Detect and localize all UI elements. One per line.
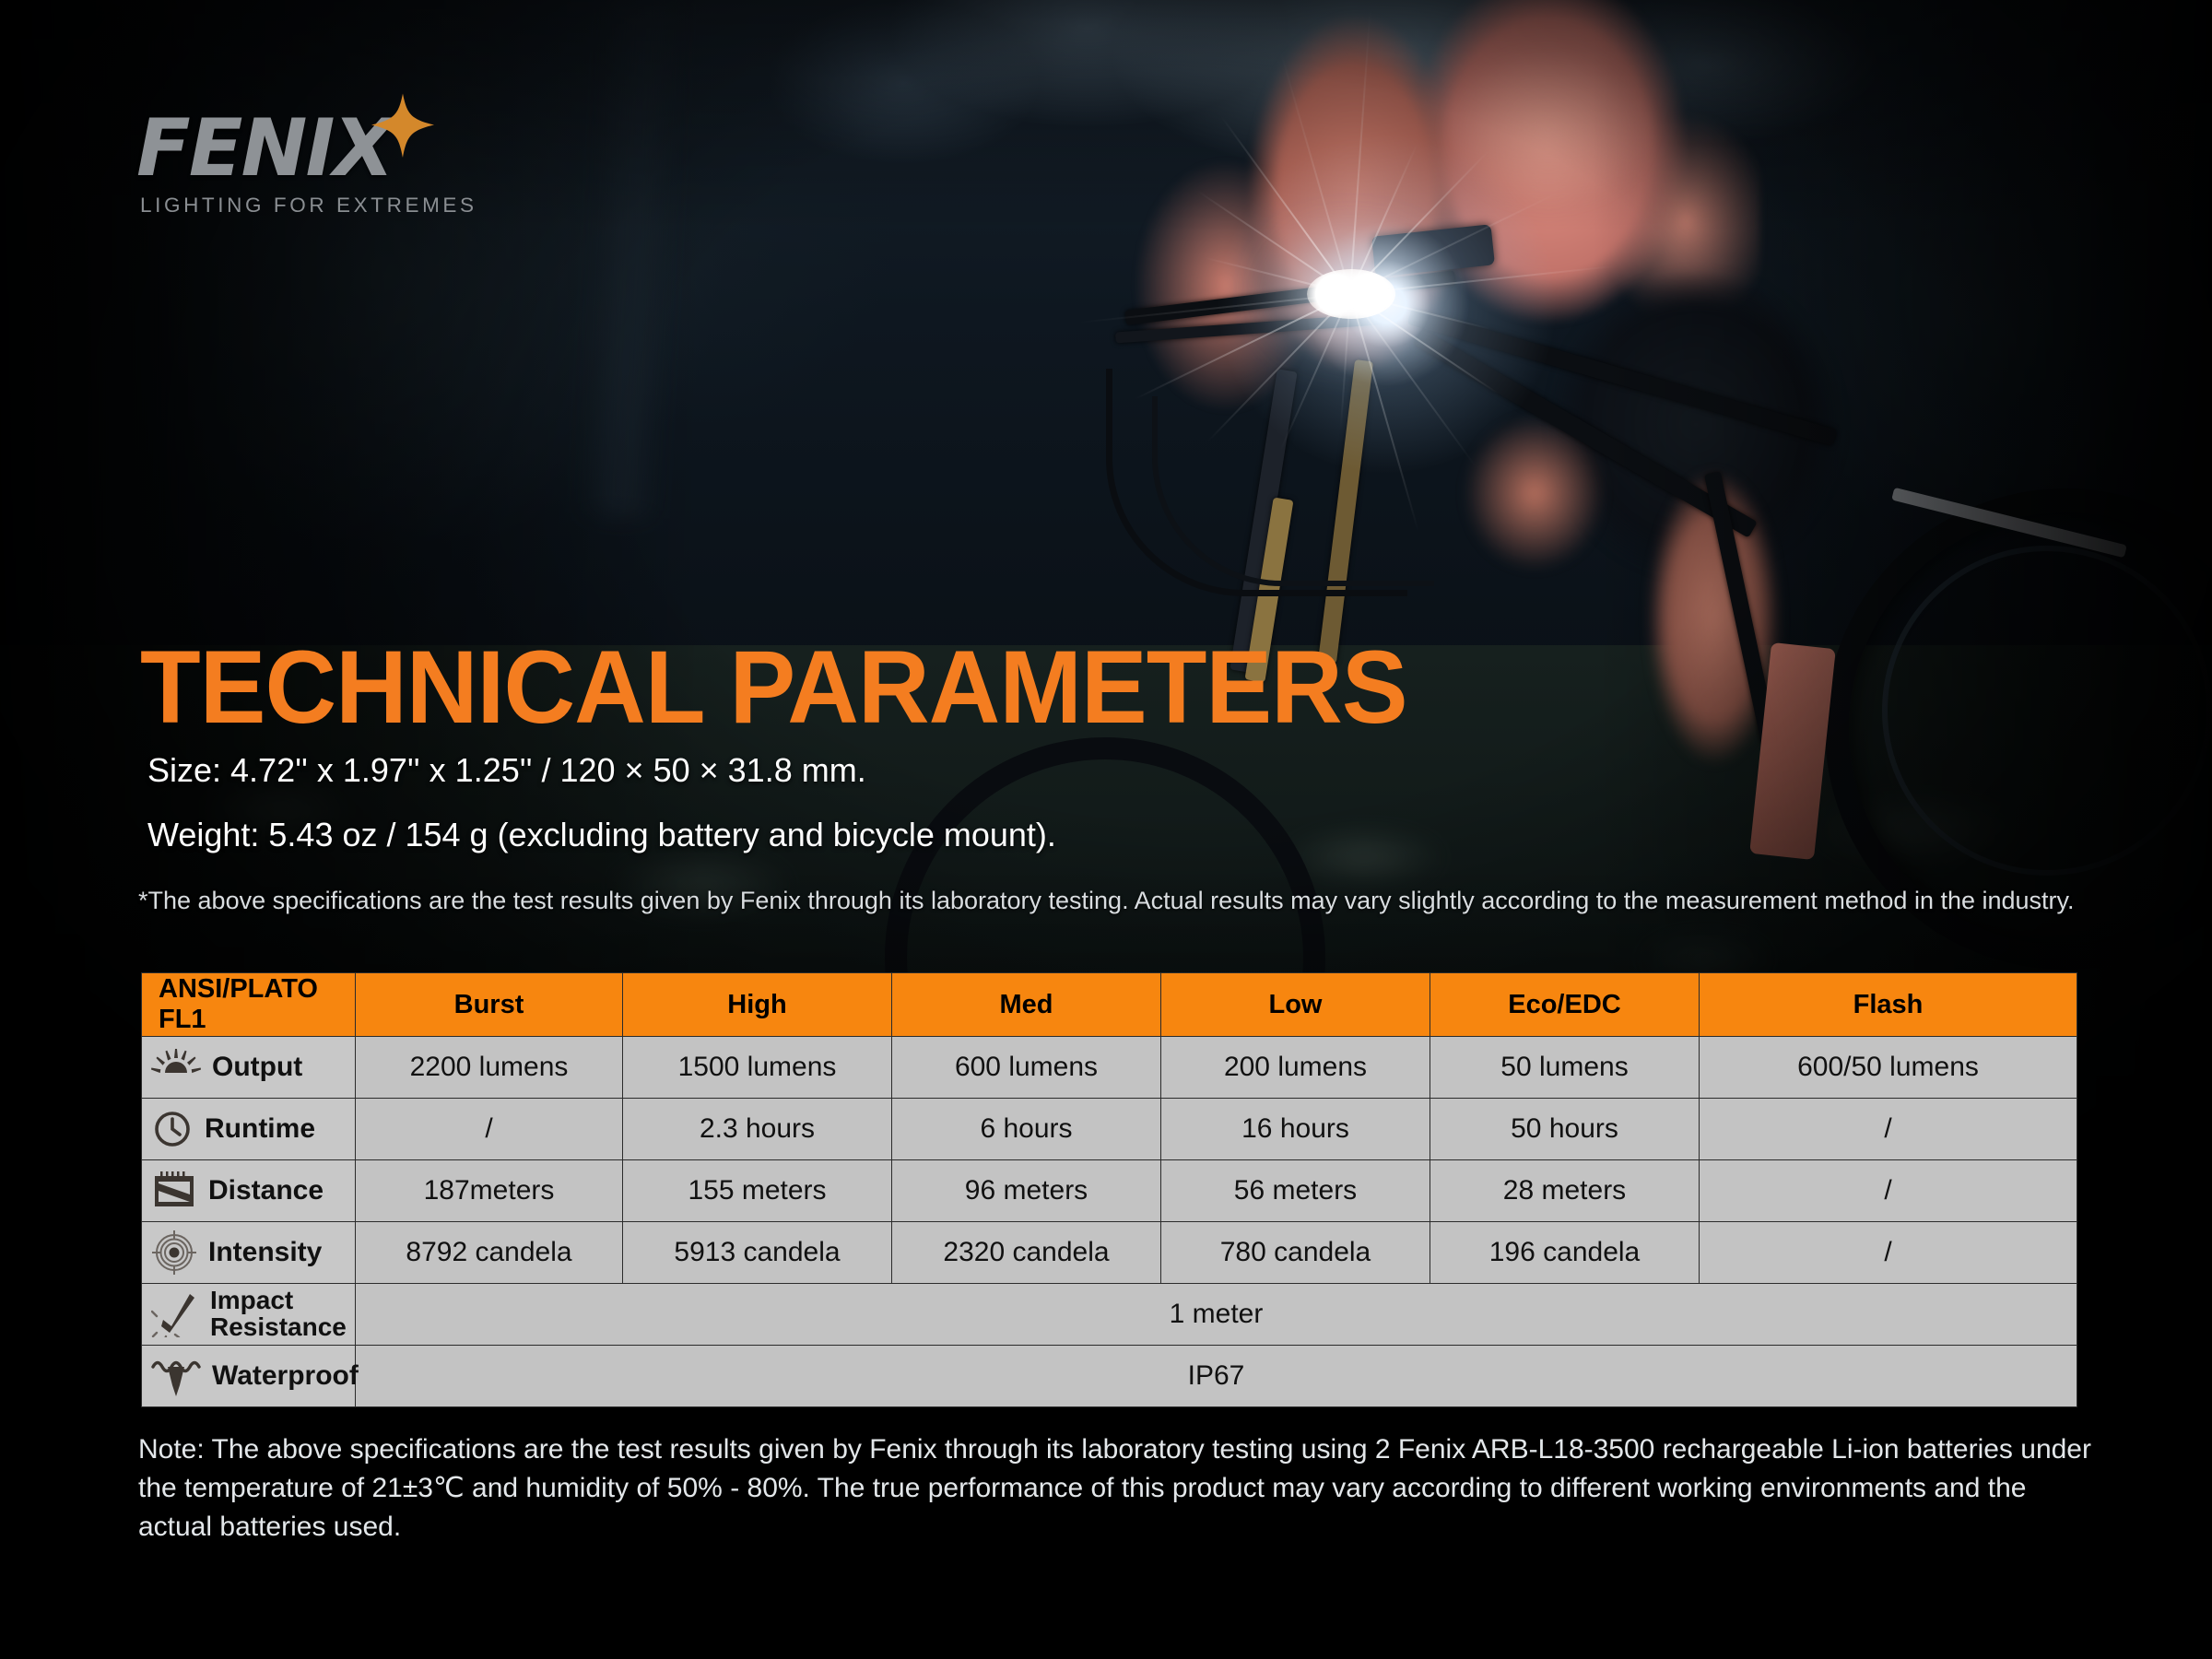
row-label-text: Output (212, 1053, 302, 1082)
table-row-waterproof: Waterproof IP67 (142, 1346, 2077, 1407)
row-label-intensity: Intensity (142, 1222, 356, 1284)
star-icon (369, 92, 437, 160)
cell-intensity-high: 5913 candela (623, 1222, 892, 1284)
cell-impact-resistance-value: 1 meter (356, 1284, 2077, 1346)
cell-runtime-med: 6 hours (892, 1099, 1161, 1160)
table-row-impact-resistance: Impact Resistance 1 meter (142, 1284, 2077, 1346)
fenix-tagline: LIGHTING FOR EXTREMES (140, 194, 477, 218)
row-label-runtime: Runtime (142, 1099, 356, 1160)
fenix-logo: FENIX LIGHTING FOR EXTREMES (136, 109, 524, 201)
cell-distance-flash: / (1700, 1160, 2077, 1222)
cell-runtime-low: 16 hours (1161, 1099, 1430, 1160)
cell-distance-eco: 28 meters (1430, 1160, 1700, 1222)
cell-output-flash: 600/50 lumens (1700, 1037, 2077, 1099)
clock-icon (151, 1108, 194, 1150)
cell-runtime-flash: / (1700, 1099, 2077, 1160)
row-label-output: Output (142, 1037, 356, 1099)
table-row-output: Output 2200 lumens 1500 lumens 600 lumen… (142, 1037, 2077, 1099)
row-label-impact-resistance: Impact Resistance (142, 1284, 356, 1346)
cell-output-med: 600 lumens (892, 1037, 1161, 1099)
cell-output-high: 1500 lumens (623, 1037, 892, 1099)
column-header-eco-edc: Eco/EDC (1430, 973, 1700, 1037)
impact-drop-icon (151, 1291, 199, 1337)
spec-weight: Weight: 5.43 oz / 154 g (excluding batte… (147, 816, 1056, 854)
cell-output-eco: 50 lumens (1430, 1037, 1700, 1099)
cell-distance-burst: 187meters (356, 1160, 623, 1222)
column-header-med: Med (892, 973, 1161, 1037)
cell-distance-low: 56 meters (1161, 1160, 1430, 1222)
cell-intensity-med: 2320 candela (892, 1222, 1161, 1284)
footer-note: Note: The above specifications are the t… (138, 1430, 2092, 1547)
cell-output-burst: 2200 lumens (356, 1037, 623, 1099)
specs-disclaimer: *The above specifications are the test r… (138, 885, 2083, 918)
row-label-waterproof: Waterproof (142, 1346, 356, 1407)
table-header-row: ANSI/PLATO FL1 Burst High Med Low Eco/ED… (142, 973, 2077, 1037)
technical-parameters-table: ANSI/PLATO FL1 Burst High Med Low Eco/ED… (141, 972, 2077, 1407)
cell-intensity-eco: 196 candela (1430, 1222, 1700, 1284)
cell-distance-med: 96 meters (892, 1160, 1161, 1222)
table-row-distance: Distance 187meters 155 meters 96 meters … (142, 1160, 2077, 1222)
waterproof-icon (151, 1356, 201, 1396)
table-row-intensity: Intensity 8792 candela 5913 candela 2320… (142, 1222, 2077, 1284)
row-label-text: Distance (208, 1177, 324, 1206)
column-header-low: Low (1161, 973, 1430, 1037)
poster-canvas: FENIX LIGHTING FOR EXTREMES TECHNICAL PA… (0, 0, 2212, 1659)
row-label-distance: Distance (142, 1160, 356, 1222)
cell-runtime-high: 2.3 hours (623, 1099, 892, 1160)
cell-intensity-burst: 8792 candela (356, 1222, 623, 1284)
table-row-runtime: Runtime / 2.3 hours 6 hours 16 hours 50 … (142, 1099, 2077, 1160)
page-title: TECHNICAL PARAMETERS (140, 636, 1407, 739)
cell-intensity-low: 780 candela (1161, 1222, 1430, 1284)
target-icon (151, 1230, 197, 1276)
cell-distance-high: 155 meters (623, 1160, 892, 1222)
cell-waterproof-value: IP67 (356, 1346, 2077, 1407)
cell-runtime-burst: / (356, 1099, 623, 1160)
column-header-ansi: ANSI/PLATO FL1 (142, 973, 356, 1037)
row-label-text: Intensity (208, 1239, 322, 1267)
row-label-text: Runtime (205, 1115, 315, 1144)
column-header-high: High (623, 973, 892, 1037)
cell-output-low: 200 lumens (1161, 1037, 1430, 1099)
cell-intensity-flash: / (1700, 1222, 2077, 1284)
row-label-text: Waterproof (212, 1362, 359, 1391)
cell-runtime-eco: 50 hours (1430, 1099, 1700, 1160)
column-header-burst: Burst (356, 973, 623, 1037)
ruler-distance-icon (151, 1171, 197, 1211)
column-header-flash: Flash (1700, 973, 2077, 1037)
fenix-wordmark: FENIX (136, 109, 524, 188)
row-label-text-line2: Resistance (210, 1312, 347, 1341)
row-label-text-line1: Impact (210, 1286, 293, 1314)
sun-burst-icon (151, 1049, 201, 1086)
spec-size: Size: 4.72'' x 1.97'' x 1.25'' / 120 × 5… (147, 751, 866, 790)
